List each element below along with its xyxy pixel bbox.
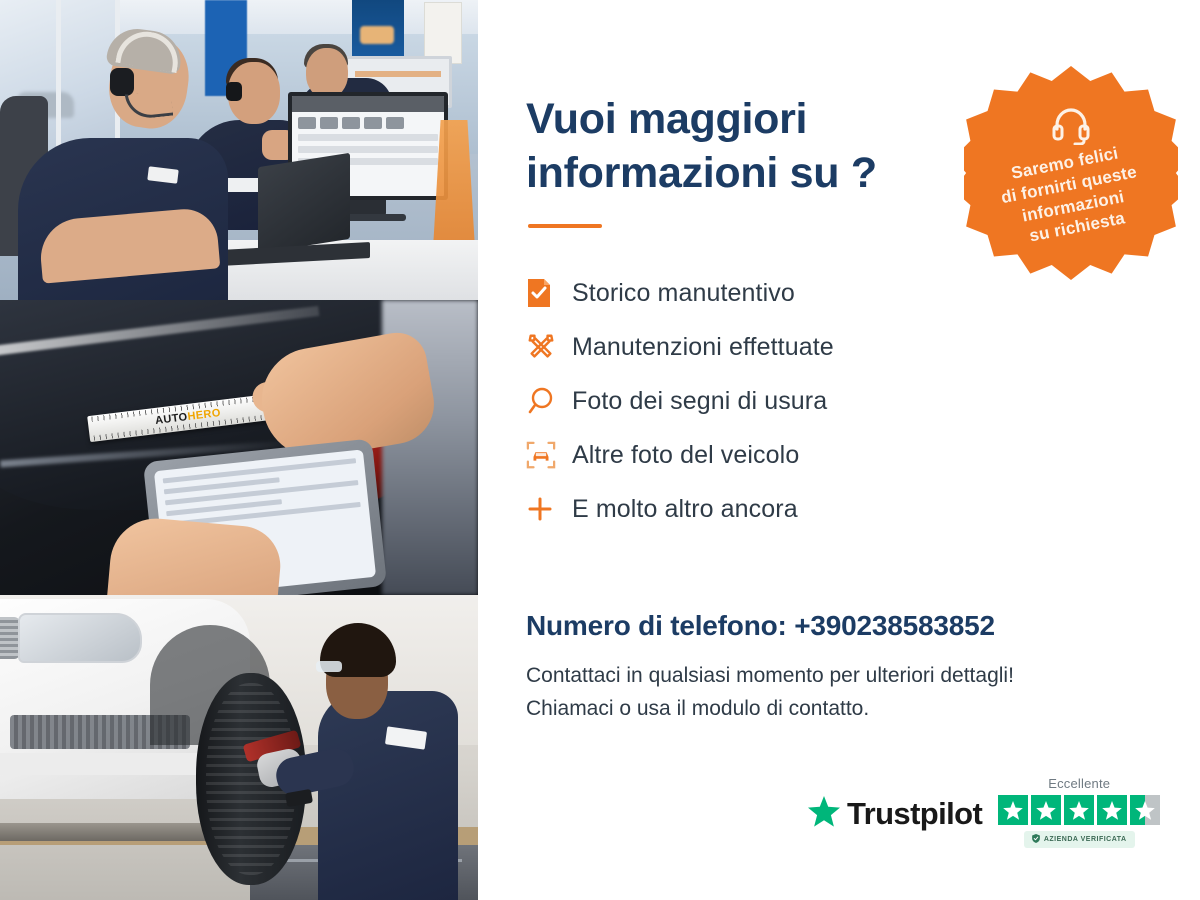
list-item: Storico manutentivo <box>526 266 1200 320</box>
star-filled <box>1064 795 1094 825</box>
bumper-lip <box>0 753 220 775</box>
contact-line-1: Contattaci in qualsiasi momento per ulte… <box>526 664 1014 687</box>
monitor-row <box>298 134 438 141</box>
contact-line-2: Chiamaci o usa il modulo di contatto. <box>526 697 869 720</box>
crossed-tools-icon <box>526 332 572 362</box>
call-center-agents-photo <box>0 0 478 300</box>
contact-description: Contattaci in qualsiasi momento per ulte… <box>526 660 1136 725</box>
headline-line-1: Vuoi maggiori <box>526 95 807 143</box>
star-half <box>1130 795 1160 825</box>
headline-line-2: informazioni su ? <box>526 149 877 197</box>
car-grille <box>0 617 20 659</box>
star-rating <box>998 795 1160 825</box>
feature-label: Manutenzioni effettuate <box>572 333 834 362</box>
feature-label: E molto altro ancora <box>572 495 798 524</box>
list-item: E molto altro ancora <box>526 482 1200 536</box>
trustpilot-widget[interactable]: Trustpilot Eccellente <box>808 776 1160 848</box>
workshop-wheel-service-photo <box>0 595 478 900</box>
shield-check-icon <box>1032 834 1040 845</box>
list-item: Manutenzioni effettuate <box>526 320 1200 374</box>
photo-column: AUTOHERO <box>0 0 478 900</box>
monitor-row <box>298 146 438 153</box>
monitor-toolbar <box>292 96 444 112</box>
content-panel: Vuoi maggiori informazioni su ? Storico … <box>478 0 1200 900</box>
car-scan-frame-icon <box>526 440 572 470</box>
trustpilot-brand-name: Trustpilot <box>847 796 982 832</box>
phone-number-label: Numero di telefono: +390238583852 <box>526 610 1200 642</box>
headline-divider <box>528 224 602 228</box>
badge-text: Saremo felici di fornirti queste informa… <box>984 138 1158 254</box>
trustpilot-rating: Eccellente <box>998 776 1160 848</box>
trustpilot-star-icon <box>808 796 840 832</box>
agent-3-head <box>306 48 348 98</box>
magnifier-icon <box>526 386 572 416</box>
verified-label: AZIENDA VERIFICATA <box>1044 836 1127 843</box>
list-item: Altre foto del veicolo <box>526 428 1200 482</box>
mechanic-body <box>318 691 458 900</box>
status-badge: AZIENDA VERIFICATA <box>1024 831 1135 848</box>
star-filled <box>998 795 1028 825</box>
monitor-thumbnails <box>298 117 438 129</box>
trustpilot-brand[interactable]: Trustpilot <box>808 796 982 832</box>
ruler-brand-label: AUTOHERO <box>155 407 222 427</box>
info-request-banner: AUTOHERO <box>0 0 1200 900</box>
wall-poster <box>424 2 462 64</box>
plus-icon <box>526 495 572 523</box>
agent-2-headset-earcup <box>226 82 242 101</box>
checklist-document-icon <box>526 278 572 308</box>
list-item: Foto dei segni di usura <box>526 374 1200 428</box>
laptop-screen <box>258 153 350 254</box>
agent-1-headset-earcup <box>110 68 134 96</box>
page-title: Vuoi maggiori informazioni su ? <box>526 92 946 200</box>
headset-icon <box>1051 107 1091 150</box>
feature-label: Altre foto del veicolo <box>572 441 799 470</box>
feature-label: Foto dei segni di usura <box>572 387 827 416</box>
star-filled <box>1097 795 1127 825</box>
safety-glasses <box>316 661 342 672</box>
star-filled <box>1031 795 1061 825</box>
feature-label: Storico manutentivo <box>572 279 795 308</box>
rating-label: Eccellente <box>1048 776 1110 791</box>
feature-list: Storico manutentivo Manutenzioni effettu… <box>526 266 1200 536</box>
status-badge: Saremo felici di fornirti queste informa… <box>964 66 1178 280</box>
vehicle-inspection-photo: AUTOHERO <box>0 300 478 595</box>
car-headlight <box>18 613 142 663</box>
